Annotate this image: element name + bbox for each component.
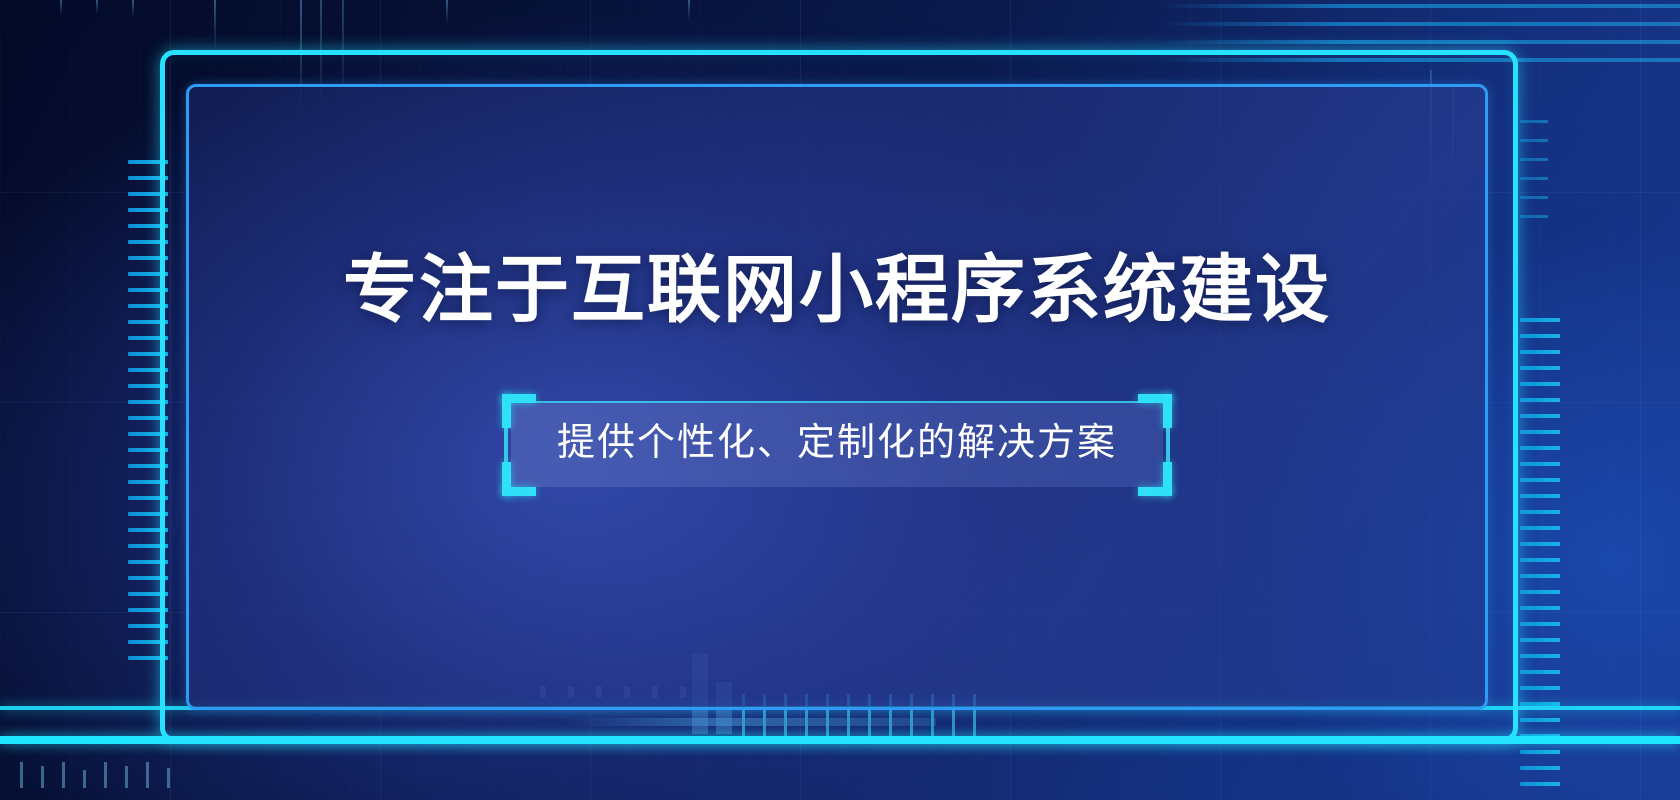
tick-comb-bottom — [20, 762, 170, 788]
horizontal-streaks — [1160, 4, 1680, 76]
subtitle-rail-left — [504, 394, 508, 496]
tick-ladder-left — [128, 160, 168, 672]
hero-banner: 专注于互联网小程序系统建设 提供个性化、定制化的解决方案 — [0, 0, 1680, 800]
subtitle-group: 提供个性化、定制化的解决方案 — [511, 403, 1163, 487]
glow-bar-lower — [0, 736, 1680, 744]
tick-ladder-right — [1520, 318, 1560, 798]
soft-bar — [566, 718, 936, 726]
page-subtitle: 提供个性化、定制化的解决方案 — [557, 422, 1117, 464]
subtitle-panel: 提供个性化、定制化的解决方案 — [511, 403, 1163, 487]
banner-content: 专注于互联网小程序系统建设 提供个性化、定制化的解决方案 — [186, 84, 1488, 710]
tick-ladder-right-small — [1520, 120, 1548, 234]
page-title: 专注于互联网小程序系统建设 — [343, 253, 1331, 327]
subtitle-rail-right — [1166, 394, 1170, 496]
